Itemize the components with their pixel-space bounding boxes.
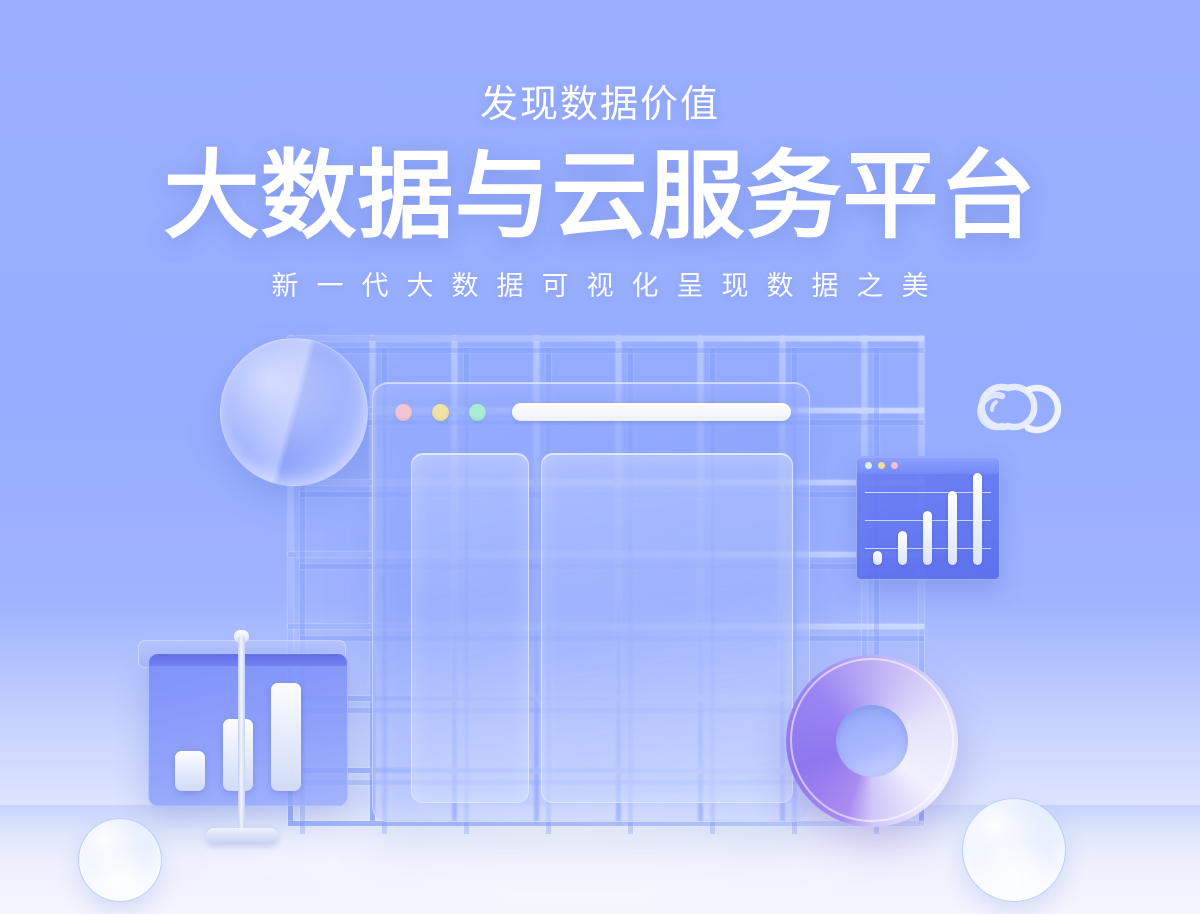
banner-eyebrow: 发现数据价值 <box>0 86 1200 124</box>
glass-disc <box>220 338 368 486</box>
traffic-light-maximize-icon[interactable] <box>891 462 898 469</box>
banner-stage: 发现数据价值 大数据与云服务平台 新一代大数据可视化呈现数据之美 <box>0 0 1200 914</box>
chart-bar <box>175 751 205 791</box>
banner-copy: 发现数据价值 大数据与云服务平台 新一代大数据可视化呈现数据之美 <box>0 86 1200 303</box>
traffic-light-close-icon[interactable] <box>395 404 412 421</box>
cloud-icon <box>972 368 1064 442</box>
chart-widget-titlebar <box>857 457 999 474</box>
chart-bar <box>923 511 932 565</box>
browser-titlebar <box>373 383 809 441</box>
content-panel[interactable] <box>541 453 793 803</box>
chart-bar <box>948 491 957 565</box>
stand-base <box>206 828 278 844</box>
chart-widget-plot-area <box>857 474 999 579</box>
glass-sphere-right <box>962 798 1066 902</box>
banner-subtitle: 新一代大数据可视化呈现数据之美 <box>0 264 1200 303</box>
page-title: 大数据与云服务平台 <box>0 148 1200 246</box>
bar-chart-widget[interactable] <box>856 456 1000 580</box>
address-bar-input[interactable] <box>512 403 791 421</box>
podium-top-bar <box>149 654 347 666</box>
traffic-light-close-icon[interactable] <box>865 462 872 469</box>
traffic-light-maximize-icon[interactable] <box>469 404 486 421</box>
sidebar-panel[interactable] <box>411 453 529 803</box>
stand-pole <box>238 636 245 836</box>
chart-bar <box>898 531 907 565</box>
podium-bar-chart[interactable] <box>148 653 348 806</box>
glass-sphere-left <box>78 818 162 902</box>
traffic-light-minimize-icon[interactable] <box>432 404 449 421</box>
chart-bar <box>271 683 301 791</box>
chart-bar <box>973 473 982 565</box>
chart-bar <box>873 551 882 565</box>
traffic-light-minimize-icon[interactable] <box>878 462 885 469</box>
donut-torus <box>786 655 958 827</box>
cloud-icon-svg <box>972 368 1064 442</box>
main-browser-mockup[interactable] <box>372 382 810 822</box>
